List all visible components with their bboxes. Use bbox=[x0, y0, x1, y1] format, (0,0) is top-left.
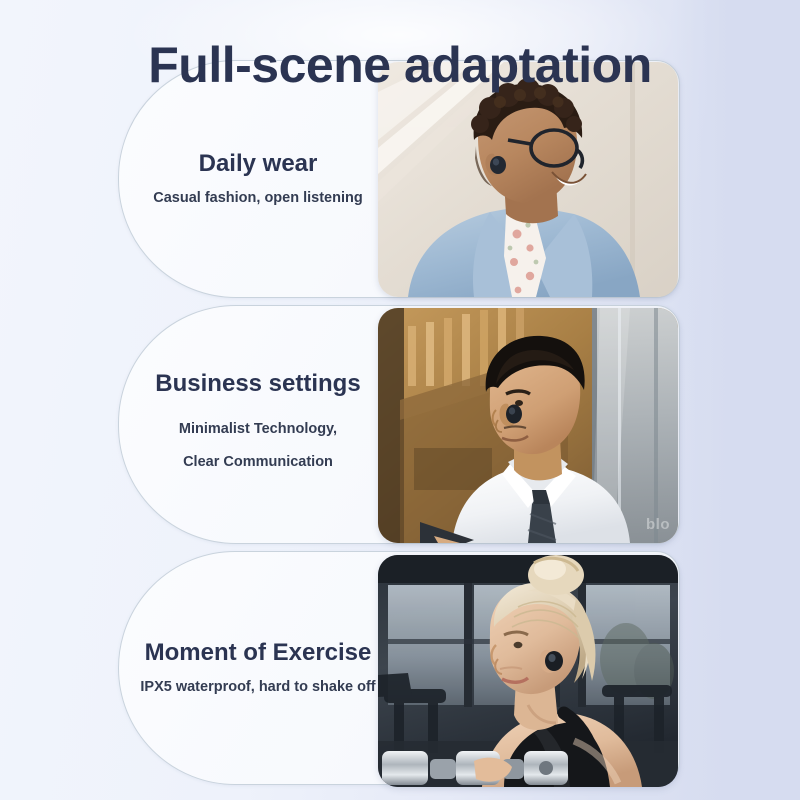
photo-business-settings-illustration bbox=[378, 308, 678, 543]
card-text-block: Moment of Exercise IPX5 waterproof, hard… bbox=[139, 552, 377, 784]
card-subtitle-line: Minimalist Technology, bbox=[179, 413, 337, 446]
card-title: Moment of Exercise bbox=[145, 639, 372, 668]
card-subtitle-line: Clear Communication bbox=[179, 446, 337, 479]
card-subtitle: IPX5 waterproof, hard to shake off bbox=[140, 678, 375, 698]
card-photo-business-settings: blo bbox=[378, 308, 678, 543]
card-photo-moment-of-exercise bbox=[378, 555, 678, 787]
feature-card-list: Daily wear Casual fashion, open listenin… bbox=[0, 0, 800, 800]
card-text-block: Business settings Minimalist Technology,… bbox=[139, 306, 377, 543]
card-title: Daily wear bbox=[199, 150, 318, 179]
card-text-block: Daily wear Casual fashion, open listenin… bbox=[139, 61, 377, 297]
photo-daily-wear-illustration bbox=[378, 62, 678, 297]
card-photo-daily-wear bbox=[378, 62, 678, 297]
card-subtitle: Minimalist Technology, Clear Communicati… bbox=[179, 413, 337, 478]
page-title: Full-scene adaptation bbox=[0, 36, 800, 94]
card-title: Business settings bbox=[155, 370, 360, 399]
marketing-page: Full-scene adaptation Daily wear Casual … bbox=[0, 0, 800, 800]
card-subtitle: Casual fashion, open listening bbox=[153, 189, 362, 209]
photo-moment-of-exercise-illustration bbox=[378, 555, 678, 787]
